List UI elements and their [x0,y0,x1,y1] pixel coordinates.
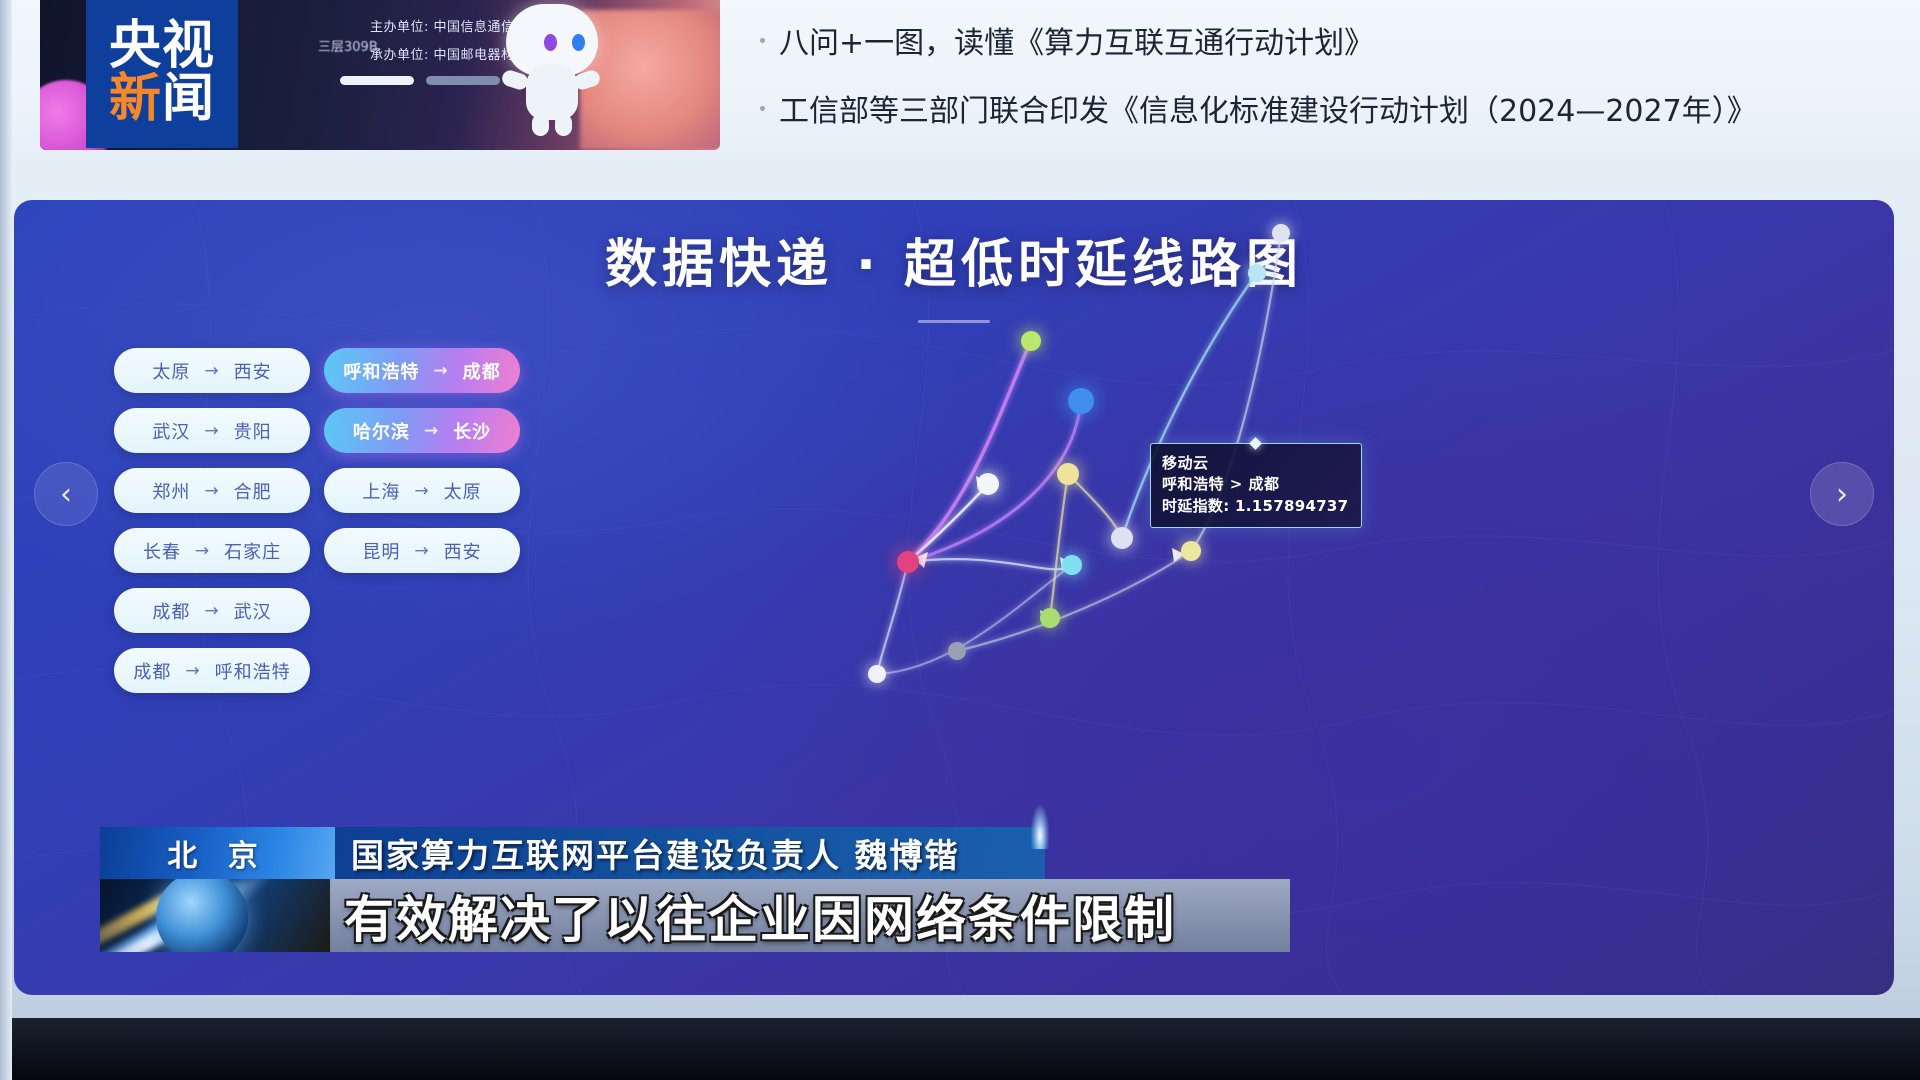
cctv-news-logo: 央视 新 闻 [86,0,238,148]
globe-graphic [100,879,332,952]
tooltip-metric-label: 时延指数: [1162,497,1230,515]
guest-title-name: 国家算力互联网平台建设负责人 魏博锴 [335,827,1045,879]
subtitle-text: 有效解决了以往企业因网络条件限制 [344,880,1176,952]
node-green[interactable] [1021,331,1041,351]
tooltip-provider: 移动云 [1162,453,1350,474]
logo-text-line2-accent: 新 [109,74,162,125]
banner-spark-icon [1031,805,1049,849]
node-pink-hub[interactable] [897,551,919,573]
monitor-bezel-bottom [0,1018,1920,1080]
node-upper-cyan[interactable] [1248,264,1266,282]
location-badge: 北 京 [100,827,335,879]
carousel-pill-inactive[interactable] [426,76,500,85]
node-blue-selected[interactable] [1068,388,1094,414]
news-item[interactable]: 工信部等三部门联合印发《信息化标准建设行动计划（2024—2027年）》 [760,86,1757,130]
banner-address: 三层309B [318,36,378,55]
node-lavender[interactable] [1111,527,1133,549]
logo-text-line2-white: 闻 [162,74,215,125]
node-yellow-right[interactable] [1181,541,1201,561]
bullet-icon [760,38,765,43]
lower-third-top-row: 北 京 国家算力互联网平台建设负责人 魏博锴 [100,827,1045,879]
node-white-center[interactable] [977,473,999,495]
top-browser-strip: 三层309B 主办单位: 中国信息通信研究院 承办单位: 中国邮电器材集团有限公… [0,0,1920,178]
node-green-low[interactable] [1040,608,1060,628]
top-news-list: 八问+一图，读懂《算力互联互通行动计划》 工信部等三部门联合印发《信息化标准建设… [760,18,1757,154]
carousel-pill-active[interactable] [340,76,414,85]
globe-icon [156,879,248,952]
tooltip-route: 呼和浩特 > 成都 [1162,474,1350,495]
news-item-text: 工信部等三部门联合印发《信息化标准建设行动计划（2024—2027年）》 [779,86,1757,130]
node-cyan-mid[interactable] [1062,555,1082,575]
tooltip-metric-value: 1.157894737 [1235,497,1348,515]
subtitle-bar: 有效解决了以往企业因网络条件限制 [330,879,1290,952]
banner-carousel-pills[interactable] [340,76,500,85]
news-item[interactable]: 八问+一图，读懂《算力互联互通行动计划》 [760,18,1757,62]
news-item-text: 八问+一图，读懂《算力互联互通行动计划》 [779,18,1374,62]
lower-third-banner: 北 京 国家算力互联网平台建设负责人 魏博锴 有效解决了以往企业因网络条件限制 [100,827,1290,952]
monitor-bezel-left [0,0,12,1080]
screen-photograph: 三层309B 主办单位: 中国信息通信研究院 承办单位: 中国邮电器材集团有限公… [0,0,1920,1080]
node-yellow-upper[interactable] [1057,463,1079,485]
node-white-bottom[interactable] [868,665,886,683]
node-top-right-grey[interactable] [1272,224,1290,242]
mascot-icon [492,0,612,138]
node-grey-low[interactable] [948,642,966,660]
logo-text-line1: 央视 [109,21,215,72]
bullet-icon [760,106,765,111]
tooltip-metric: 时延指数: 1.157894737 [1162,496,1350,517]
latency-tooltip: 移动云 呼和浩特 > 成都 时延指数: 1.157894737 [1150,443,1362,528]
